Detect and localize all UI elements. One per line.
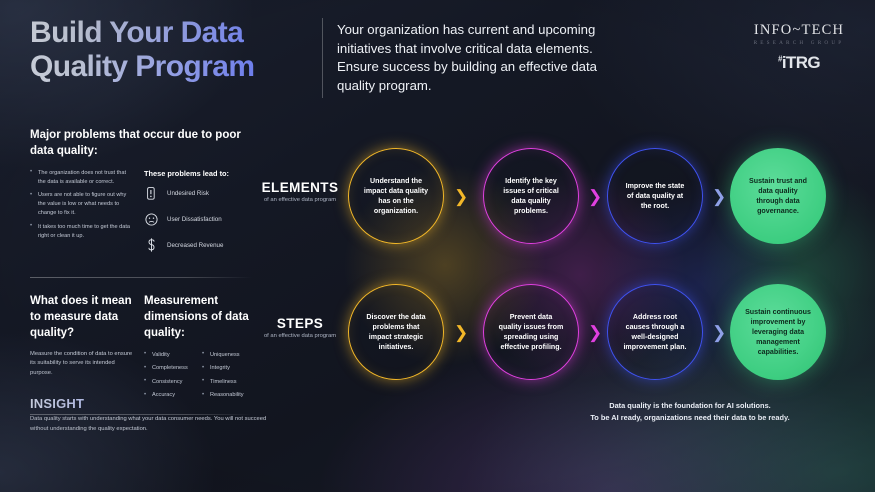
brand-name: INFO~TECH [739, 22, 859, 39]
row-label-steps-sub: of an effective data program [252, 333, 348, 339]
row-label-steps-title: STEPS [252, 316, 348, 331]
flow-node-text: Identify the key issues of critical data… [484, 149, 578, 243]
problems-heading: Major problems that occur due to poor da… [30, 128, 252, 160]
flow-node-steps-1[interactable]: Discover the data problems that impact s… [348, 284, 444, 380]
brand-mark-text: iTRG [782, 53, 820, 72]
insight-body: Data quality starts with understanding w… [30, 415, 280, 434]
left-block-problems: Major problems that occur due to poor da… [30, 128, 252, 278]
insight-heading: INSIGHT [30, 396, 280, 411]
measure-heading: What does it mean to measure data qualit… [30, 294, 134, 342]
list-item: The organization does not trust that the… [30, 169, 134, 187]
flow-node-text: Sustain trust and data quality through d… [730, 148, 826, 244]
infographic-canvas: Build Your Data Quality Program Your org… [0, 0, 875, 492]
flow-node-text: Address root causes through a well-desig… [608, 285, 702, 379]
list-item: Timeliness [202, 378, 252, 387]
list-item: Completeness [144, 364, 194, 373]
measure-body: Measure the condition of data to ensure … [30, 350, 134, 379]
list-item: Users are not able to figure out why the… [30, 191, 134, 218]
consequences-heading: These problems lead to: [144, 169, 252, 178]
list-item: Validity [144, 351, 194, 360]
brand-logo: INFO~TECH RESEARCH GROUP #iTRG [739, 22, 859, 73]
dollar-sign-icon [144, 238, 158, 253]
flow-node-text: Understand the impact data quality has o… [349, 149, 443, 243]
page-title-line-2: Quality Program [30, 50, 254, 83]
brand-mark: #iTRG [778, 53, 820, 73]
header-divider [322, 18, 323, 98]
sad-face-icon [144, 212, 158, 227]
row-label-elements-sub: of an effective data program [252, 197, 348, 203]
chevron-right-icon: ❯ [454, 188, 468, 205]
header-lede: Your organization has current and upcomi… [337, 21, 629, 96]
dimensions-heading: Measurement dimensions of data quality: [144, 294, 252, 342]
flow-node-text: Sustain continuous improvement by levera… [730, 284, 826, 380]
list-item: User Dissatisfaction [144, 212, 252, 227]
section-divider [30, 277, 252, 278]
list-item: Decreased Revenue [144, 238, 252, 253]
row-label-steps: STEPS of an effective data program [252, 316, 348, 339]
flow-node-elements-4[interactable]: Sustain trust and data quality through d… [730, 148, 826, 244]
chevron-right-icon: ❯ [454, 324, 468, 341]
footnote: Data quality is the foundation for AI so… [520, 400, 860, 424]
list-item: Consistency [144, 378, 194, 387]
consequence-label: Decreased Revenue [167, 242, 223, 249]
flow-node-text: Improve the state of data quality at the… [608, 149, 702, 243]
chevron-right-icon: ❯ [588, 188, 602, 205]
page-title: Build Your Data Quality Program [30, 16, 330, 83]
row-label-elements: ELEMENTS of an effective data program [252, 180, 348, 203]
chevron-right-icon: ❯ [712, 188, 726, 205]
consequence-label: User Dissatisfaction [167, 216, 222, 223]
exclamation-icon [144, 186, 158, 201]
row-label-elements-title: ELEMENTS [252, 180, 348, 195]
flow-node-steps-2[interactable]: Prevent data quality issues from spreadi… [483, 284, 579, 380]
list-item: It takes too much time to get the data r… [30, 223, 134, 241]
header: Build Your Data Quality Program Your org… [0, 0, 875, 118]
flow-node-steps-3[interactable]: Address root causes through a well-desig… [607, 284, 703, 380]
problems-bullet-list: The organization does not trust that the… [30, 169, 134, 241]
flow-node-elements-1[interactable]: Understand the impact data quality has o… [348, 148, 444, 244]
list-item: Integrity [202, 364, 252, 373]
chevron-right-icon: ❯ [588, 324, 602, 341]
flow-node-elements-3[interactable]: Improve the state of data quality at the… [607, 148, 703, 244]
insight-block: INSIGHT Data quality starts with underst… [30, 396, 280, 434]
chevron-right-icon: ❯ [712, 324, 726, 341]
flow-node-text: Discover the data problems that impact s… [349, 285, 443, 379]
flow-node-steps-4[interactable]: Sustain continuous improvement by levera… [730, 284, 826, 380]
consequence-label: Undesired Risk [167, 190, 209, 197]
brand-tagline: RESEARCH GROUP [739, 40, 859, 46]
list-item: Undesired Risk [144, 186, 252, 201]
flow-node-text: Prevent data quality issues from spreadi… [484, 285, 578, 379]
page-title-line-1: Build Your Data [30, 16, 243, 49]
list-item: Uniqueness [202, 351, 252, 360]
flow-node-elements-2[interactable]: Identify the key issues of critical data… [483, 148, 579, 244]
